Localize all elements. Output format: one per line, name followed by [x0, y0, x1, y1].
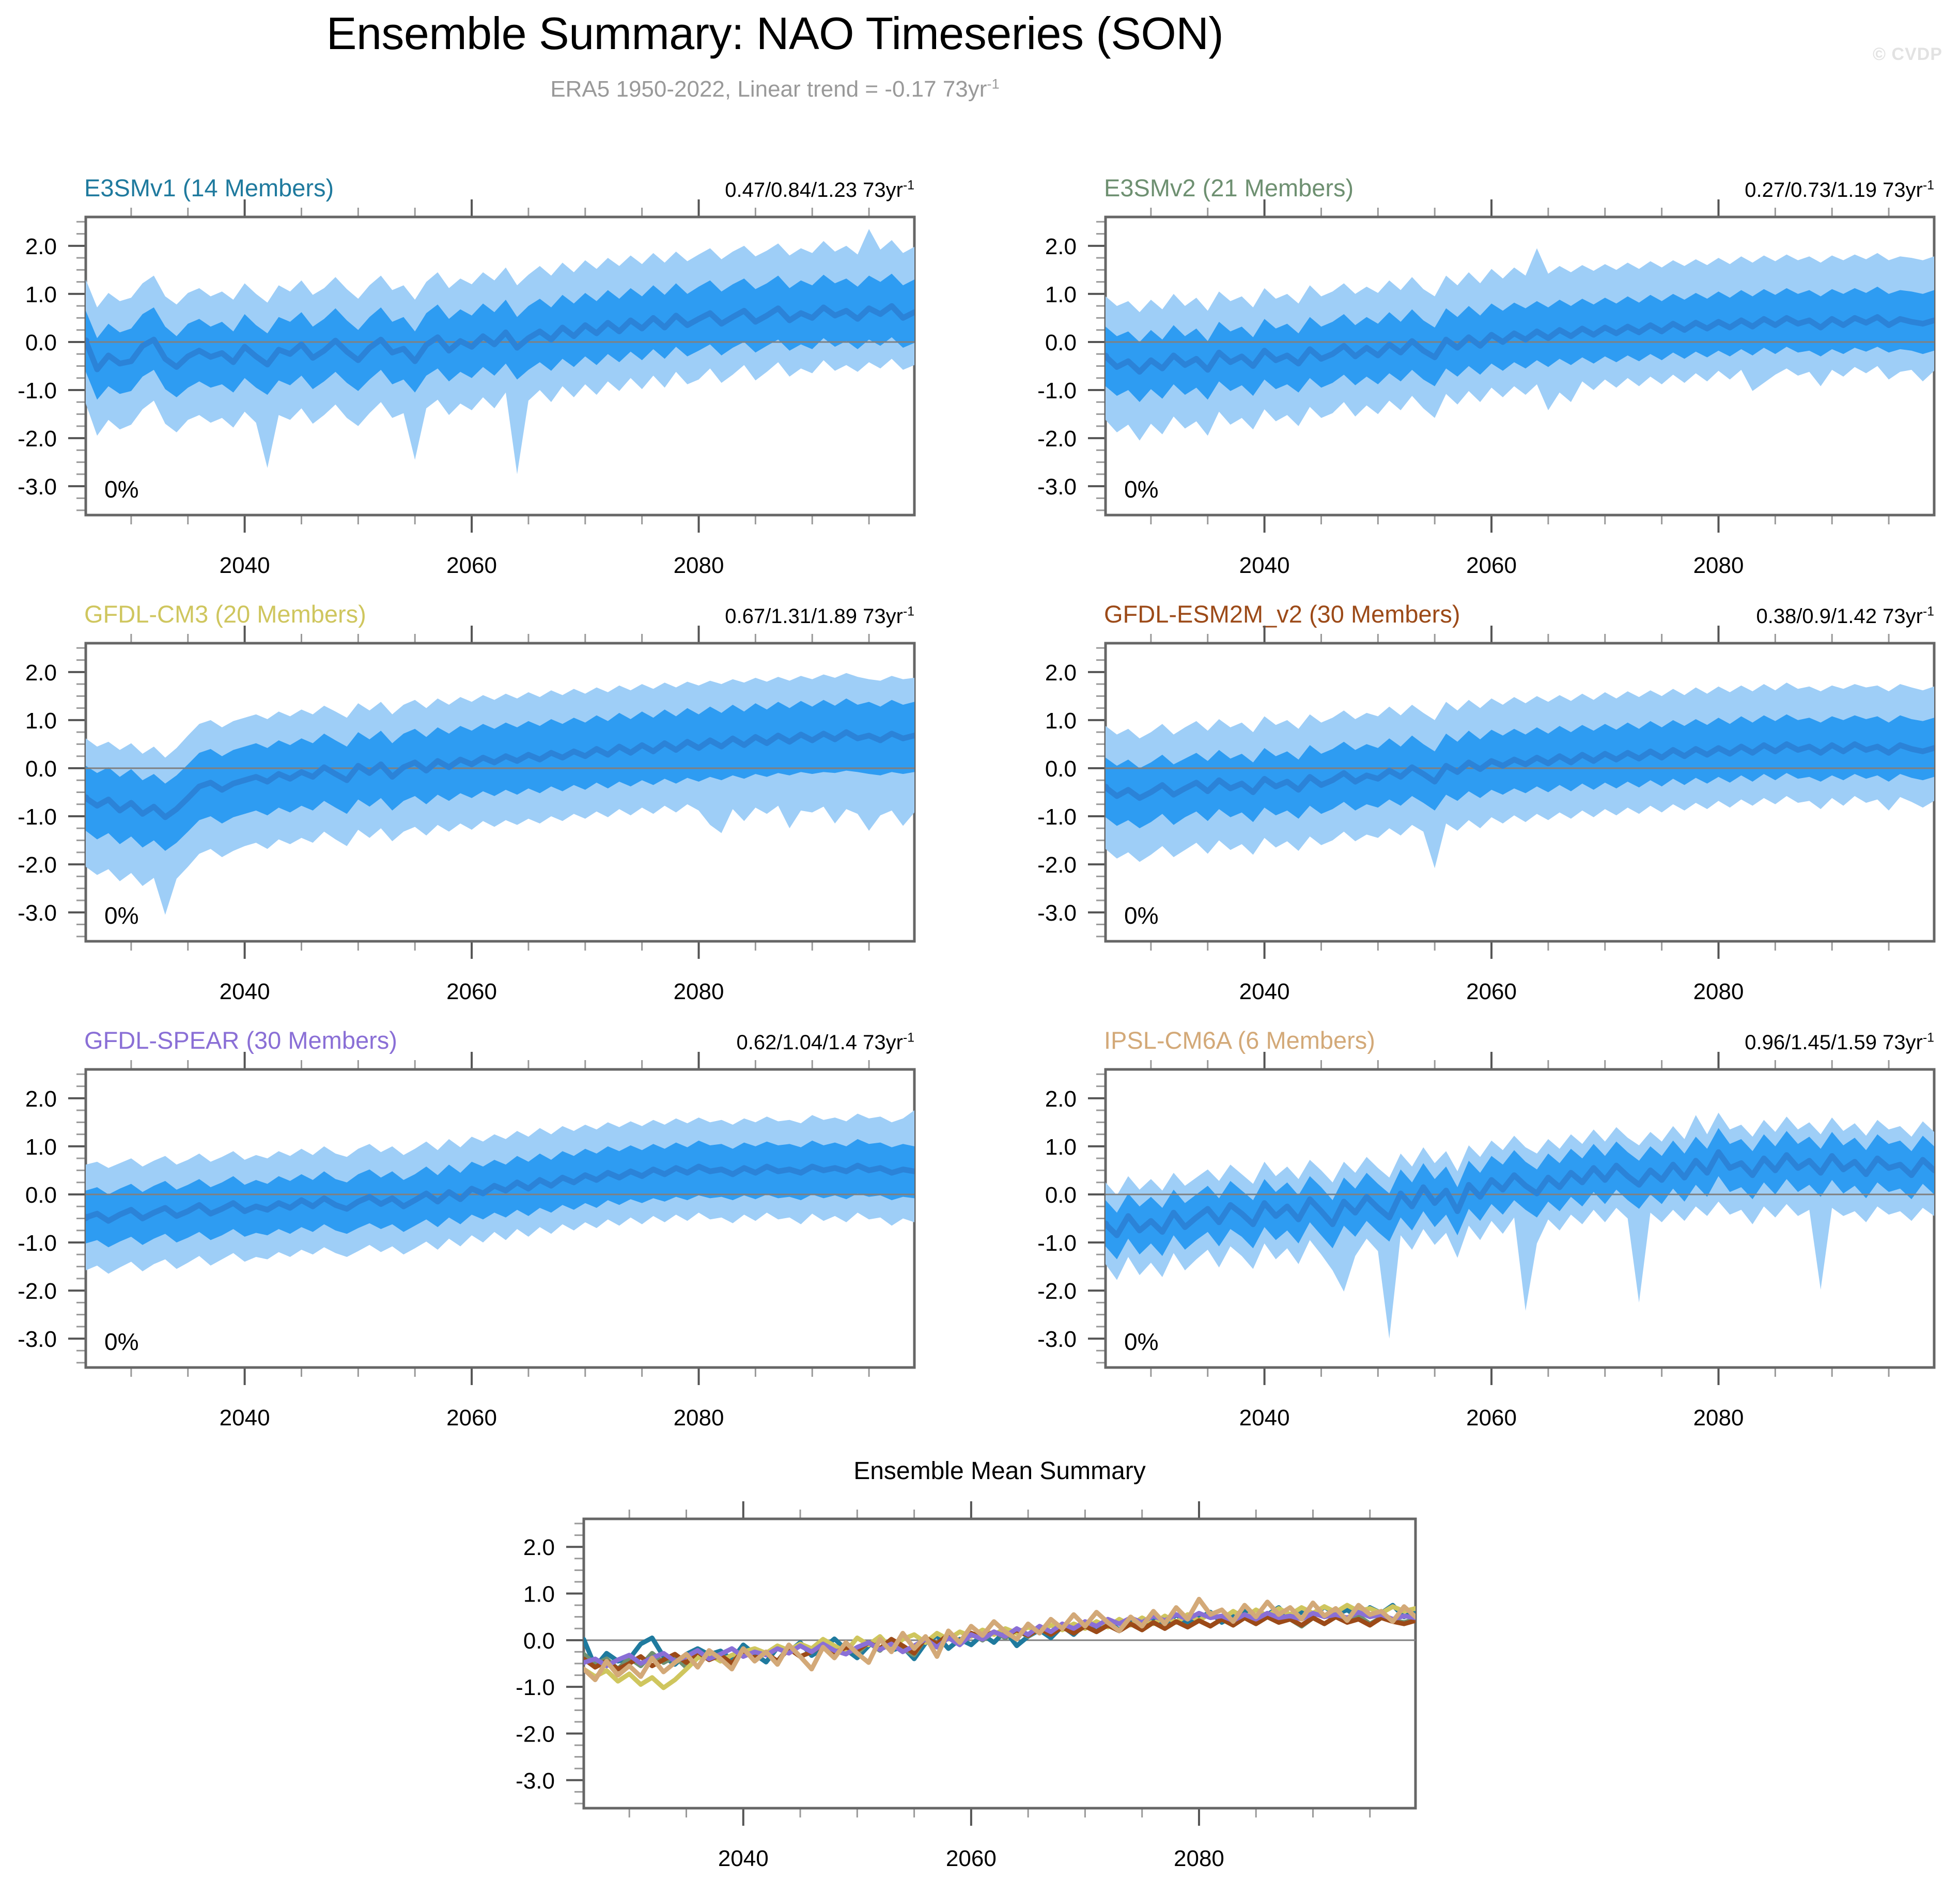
svg-text:1.0: 1.0 — [25, 282, 57, 307]
svg-text:2.0: 2.0 — [1045, 234, 1077, 259]
svg-text:0.0: 0.0 — [1045, 756, 1077, 782]
plot-area-5: 2.01.00.0-1.0-2.0-3.0204020602080 0% — [0, 1038, 945, 1455]
plot-area-1: 2.01.00.0-1.0-2.0-3.0204020602080 0% — [0, 186, 945, 603]
cvdp-watermark: © CVDP — [1873, 44, 1942, 65]
svg-text:-2.0: -2.0 — [1037, 852, 1077, 878]
svg-text:0%: 0% — [104, 1328, 138, 1355]
page-subtitle-exponent: -1 — [987, 75, 999, 91]
svg-text:-1.0: -1.0 — [1037, 1231, 1077, 1256]
svg-text:0%: 0% — [104, 476, 138, 503]
svg-text:0.0: 0.0 — [1045, 1183, 1077, 1208]
svg-text:-1.0: -1.0 — [18, 1231, 57, 1256]
figure-root: Ensemble Summary: NAO Timeseries (SON) E… — [0, 0, 1960, 1871]
svg-text:-3.0: -3.0 — [1037, 900, 1077, 926]
svg-text:-2.0: -2.0 — [18, 426, 57, 452]
svg-text:2.0: 2.0 — [25, 660, 57, 686]
svg-text:1.0: 1.0 — [1045, 282, 1077, 307]
svg-text:1.0: 1.0 — [1045, 1135, 1077, 1160]
svg-text:2040: 2040 — [220, 1405, 270, 1431]
svg-text:0.0: 0.0 — [25, 756, 57, 782]
svg-text:-3.0: -3.0 — [516, 1768, 555, 1794]
svg-text:1.0: 1.0 — [25, 708, 57, 734]
svg-text:2060: 2060 — [946, 1846, 997, 1871]
svg-text:2060: 2060 — [1466, 1405, 1517, 1431]
svg-text:2080: 2080 — [1174, 1846, 1224, 1871]
svg-text:-3.0: -3.0 — [1037, 474, 1077, 500]
page-subtitle-text: ERA5 1950-2022, Linear trend = -0.17 73y… — [550, 76, 987, 102]
svg-text:-3.0: -3.0 — [18, 1327, 57, 1352]
page-subtitle: ERA5 1950-2022, Linear trend = -0.17 73y… — [0, 76, 1550, 102]
page-title: Ensemble Summary: NAO Timeseries (SON) — [0, 7, 1550, 60]
svg-text:0%: 0% — [1124, 476, 1158, 503]
plot-area-ensemble-mean-summary: 2.01.00.0-1.0-2.0-3.0204020602080 — [480, 1488, 1446, 1896]
svg-text:-3.0: -3.0 — [18, 474, 57, 500]
svg-text:2.0: 2.0 — [1045, 660, 1077, 686]
svg-text:-2.0: -2.0 — [1037, 426, 1077, 452]
svg-text:0%: 0% — [1124, 902, 1158, 929]
plot-area-6: 2.01.00.0-1.0-2.0-3.0204020602080 0% — [1002, 1038, 1960, 1455]
plot-area-4: 2.01.00.0-1.0-2.0-3.0204020602080 0% — [1002, 612, 1960, 1029]
svg-text:2060: 2060 — [446, 1405, 497, 1431]
svg-text:2060: 2060 — [1466, 979, 1517, 1004]
svg-text:0%: 0% — [104, 902, 138, 929]
svg-text:2080: 2080 — [1693, 553, 1744, 578]
svg-text:-1.0: -1.0 — [1037, 804, 1077, 830]
svg-text:2.0: 2.0 — [523, 1535, 555, 1560]
svg-text:2040: 2040 — [1239, 1405, 1290, 1431]
svg-text:1.0: 1.0 — [1045, 708, 1077, 734]
svg-text:-3.0: -3.0 — [1037, 1327, 1077, 1352]
bottom-panel-title: Ensemble Mean Summary — [584, 1457, 1415, 1485]
svg-text:0%: 0% — [1124, 1328, 1158, 1355]
svg-text:2040: 2040 — [220, 553, 270, 578]
svg-text:2.0: 2.0 — [25, 1086, 57, 1112]
svg-text:-2.0: -2.0 — [1037, 1279, 1077, 1304]
plot-area-3: 2.01.00.0-1.0-2.0-3.0204020602080 0% — [0, 612, 945, 1029]
svg-text:0.0: 0.0 — [523, 1628, 555, 1654]
svg-text:2040: 2040 — [1239, 979, 1290, 1004]
svg-text:-1.0: -1.0 — [516, 1675, 555, 1700]
svg-text:2040: 2040 — [1239, 553, 1290, 578]
svg-text:2080: 2080 — [1693, 979, 1744, 1004]
svg-text:2080: 2080 — [674, 979, 724, 1004]
svg-text:-2.0: -2.0 — [18, 1279, 57, 1304]
svg-text:0.0: 0.0 — [25, 1183, 57, 1208]
svg-text:2060: 2060 — [446, 979, 497, 1004]
plot-area-2: 2.01.00.0-1.0-2.0-3.0204020602080 0% — [1002, 186, 1960, 603]
svg-text:2060: 2060 — [446, 553, 497, 578]
svg-text:0.0: 0.0 — [1045, 330, 1077, 355]
svg-text:-2.0: -2.0 — [18, 852, 57, 878]
svg-text:2080: 2080 — [674, 553, 724, 578]
svg-text:2.0: 2.0 — [1045, 1086, 1077, 1112]
svg-text:-1.0: -1.0 — [1037, 378, 1077, 403]
svg-text:2.0: 2.0 — [25, 234, 57, 259]
svg-text:-2.0: -2.0 — [516, 1721, 555, 1747]
svg-text:2080: 2080 — [674, 1405, 724, 1431]
svg-text:-3.0: -3.0 — [18, 900, 57, 926]
svg-text:-1.0: -1.0 — [18, 804, 57, 830]
svg-text:1.0: 1.0 — [523, 1582, 555, 1607]
svg-text:0.0: 0.0 — [25, 330, 57, 355]
svg-text:2060: 2060 — [1466, 553, 1517, 578]
svg-text:-1.0: -1.0 — [18, 378, 57, 403]
svg-text:2040: 2040 — [718, 1846, 769, 1871]
svg-text:2080: 2080 — [1693, 1405, 1744, 1431]
svg-text:1.0: 1.0 — [25, 1135, 57, 1160]
svg-text:2040: 2040 — [220, 979, 270, 1004]
